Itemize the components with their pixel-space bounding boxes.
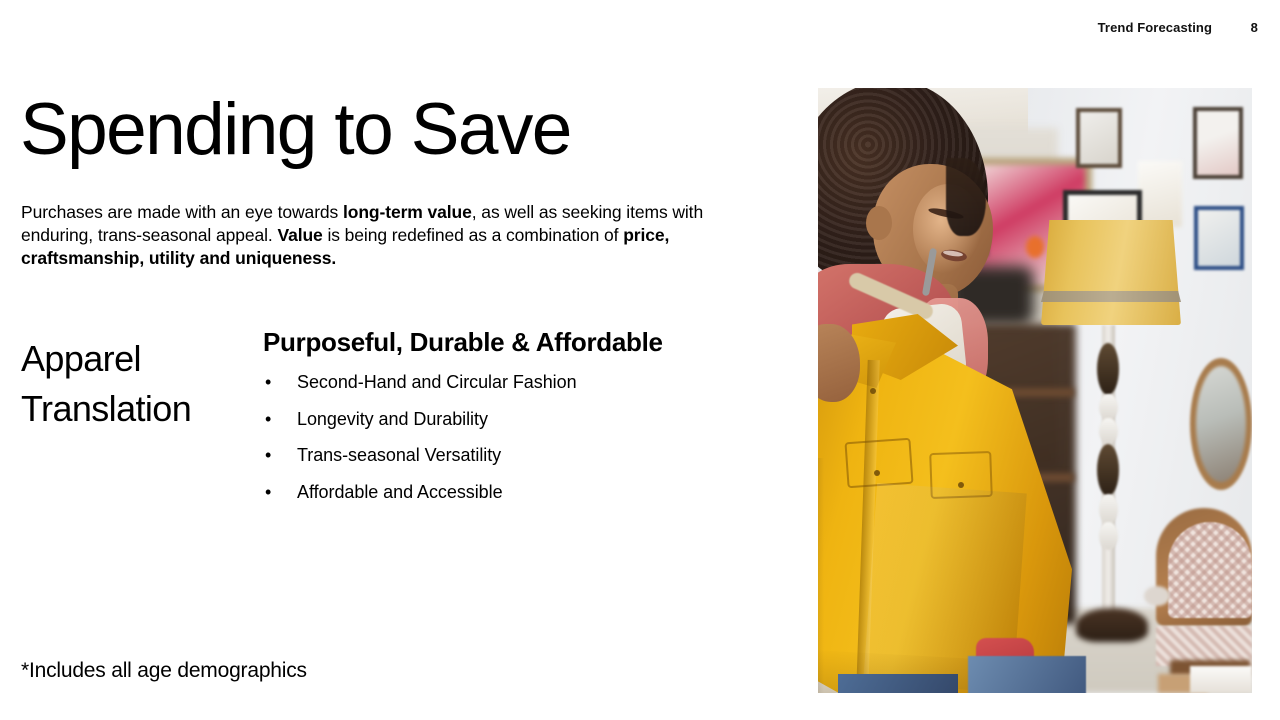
footnote: *Includes all age demographics [21,659,307,683]
list-item-label: Longevity and Durability [297,407,803,431]
page-number: 8 [1248,20,1258,35]
photo-lamp-base [1076,608,1148,642]
section-label: Trend Forecasting [1098,20,1212,35]
page-title: Spending to Save [20,93,571,166]
list-item: • Affordable and Accessible [263,480,803,504]
photo-chair-cushion [1168,522,1252,618]
photo-wall-frame [1194,206,1244,270]
bullet-list: • Second-Hand and Circular Fashion • Lon… [263,370,803,504]
photo-wall-paper [1138,161,1182,227]
bullet-dot-icon: • [263,443,297,467]
photo-jeans [838,674,958,693]
photo-shirt-button [874,470,880,476]
intro-bold-value: Value [277,225,322,245]
slide-header: Trend Forecasting 8 [1098,20,1258,35]
photo-lampshade-band [1041,291,1181,302]
photo-white-linens [1190,666,1252,693]
photo-shadow-left [818,458,824,693]
photo-shirt-button [870,388,876,394]
bullet-dot-icon: • [263,407,297,431]
intro-text-part-1: Purchases are made with an eye towards [21,202,343,222]
bullet-dot-icon: • [263,370,297,394]
photo-jeans [968,656,1086,693]
list-item: • Longevity and Durability [263,407,803,431]
list-item-label: Affordable and Accessible [297,480,803,504]
photo-lamp-glass-bead [1099,394,1118,420]
photo-shirt-button [958,482,964,488]
photo-lamp-bead [1097,343,1119,395]
list-item-label: Second-Hand and Circular Fashion [297,370,803,394]
thrift-store-photo [818,88,1252,693]
photo-yellow-shirt-pocket [844,438,913,488]
photo-lamp-bead [1097,444,1119,496]
points-block: Purposeful, Durable & Affordable • Secon… [263,326,803,516]
photo-lamp-glass-bead [1099,418,1118,444]
photo-wall-frame [1193,107,1243,179]
photo-lampshade [1041,220,1181,325]
apparel-translation-label: Apparel Translation [21,334,261,434]
list-item: • Second-Hand and Circular Fashion [263,370,803,394]
intro-text-part-3: is being redefined as a combination of [323,225,624,245]
photo-lamp-glass-bead [1099,494,1118,524]
photo-oval-mirror-glass [1196,366,1246,482]
intro-paragraph: Purchases are made with an eye towards l… [21,201,711,270]
list-item-label: Trans-seasonal Versatility [297,443,803,467]
list-item: • Trans-seasonal Versatility [263,443,803,467]
points-heading: Purposeful, Durable & Affordable [263,326,803,358]
photo-lamp-glass-bead [1099,522,1118,550]
photo-orange-object [1026,236,1044,258]
photo-woman-ear [866,206,892,240]
photo-wall-frame [1076,108,1122,168]
bullet-dot-icon: • [263,480,297,504]
intro-bold-long-term-value: long-term value [343,202,472,222]
photo-chair-arm [1144,586,1170,606]
